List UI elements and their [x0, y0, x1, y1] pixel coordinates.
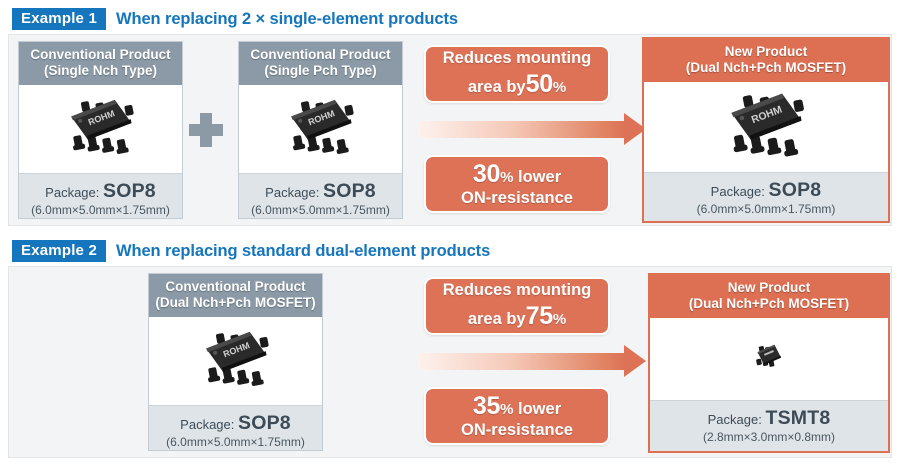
- package-label: Package:: [180, 417, 234, 432]
- callout-percent-value: 35: [473, 392, 500, 420]
- panel-header: Conventional Product (Single Nch Type): [19, 42, 182, 85]
- panel-head-line1: Conventional Product: [153, 279, 318, 295]
- panel-chip-area: ROHM: [239, 85, 402, 173]
- callout-percent-symbol: %: [500, 401, 513, 418]
- package-line: Package: SOP8: [241, 180, 400, 202]
- panel-head-line2: (Dual Nch+Pch MOSFET): [153, 295, 318, 311]
- panel-conventional-pch: Conventional Product (Single Pch Type): [238, 41, 403, 219]
- panel-header: Conventional Product (Single Pch Type): [239, 42, 402, 85]
- callout-lower-word: lower: [518, 400, 561, 418]
- transition-arrow: [418, 345, 646, 378]
- callout-percent-value: 75: [526, 302, 553, 330]
- panel-package-info: Package: TSMT8 (2.8mm×3.0mm×0.8mm): [650, 400, 888, 451]
- panel-head-line2: (Single Pch Type): [243, 63, 398, 79]
- package-line: Package: SOP8: [21, 180, 180, 202]
- panel-chip-area: [650, 318, 888, 400]
- package-name: SOP8: [103, 180, 156, 202]
- example-2-badge: Example 2: [12, 240, 106, 262]
- package-line: Package: TSMT8: [652, 407, 886, 429]
- sop8-chip-icon: ROHM: [187, 320, 284, 402]
- callout-line-2: area by75%: [468, 301, 566, 331]
- package-dimensions: (2.8mm×3.0mm×0.8mm): [652, 430, 886, 444]
- example-1-header: Example 1 When replacing 2 × single-elem…: [12, 8, 458, 30]
- panel-header: New Product (Dual Nch+Pch MOSFET): [644, 39, 888, 82]
- infographic-root: Example 1 When replacing 2 × single-elem…: [0, 0, 900, 466]
- package-name: SOP8: [323, 180, 376, 202]
- panel-head-line2: (Dual Nch+Pch MOSFET): [648, 60, 884, 76]
- panel-chip-area: ROHM: [149, 317, 322, 405]
- panel-package-info: Package: SOP8 (6.0mm×5.0mm×1.75mm): [19, 173, 182, 219]
- package-dimensions: (6.0mm×5.0mm×1.75mm): [646, 202, 886, 216]
- callout-percent-value: 30: [473, 160, 500, 188]
- callout-line-2: ON-resistance: [461, 189, 573, 209]
- package-dimensions: (6.0mm×5.0mm×1.75mm): [21, 203, 180, 217]
- callout-on-resistance-1: 30% lower ON-resistance: [424, 155, 610, 213]
- callout-line-1: Reduces mounting: [443, 49, 592, 69]
- panel-new-product-1: New Product (Dual Nch+Pch MOSFET): [642, 37, 890, 223]
- panel-new-product-2: New Product (Dual Nch+Pch MOSFET): [648, 273, 890, 453]
- callout-percent-symbol: %: [500, 169, 513, 186]
- panel-head-line1: New Product: [648, 44, 884, 60]
- panel-head-line2: (Dual Nch+Pch MOSFET): [654, 296, 884, 312]
- callout-area-by: area by: [468, 310, 526, 328]
- package-name: SOP8: [769, 179, 822, 201]
- callout-line-1: 30% lower: [473, 159, 561, 189]
- package-name: SOP8: [238, 412, 291, 434]
- example-2-title: When replacing standard dual-element pro…: [116, 242, 490, 261]
- panel-head-line1: New Product: [654, 280, 884, 296]
- panel-package-info: Package: SOP8 (6.0mm×5.0mm×1.75mm): [644, 172, 888, 223]
- package-label: Package:: [265, 185, 319, 200]
- plus-icon: [189, 113, 223, 147]
- package-line: Package: SOP8: [151, 412, 320, 434]
- package-dimensions: (6.0mm×5.0mm×1.75mm): [151, 435, 320, 449]
- callout-line-1: 35% lower: [473, 391, 561, 421]
- callout-line-2: ON-resistance: [461, 421, 573, 441]
- callout-line-2: area by50%: [468, 69, 566, 99]
- panel-conventional-nch: Conventional Product (Single Nch Type): [18, 41, 183, 219]
- callout-lower-word: lower: [518, 168, 561, 186]
- callout-on-resistance-2: 35% lower ON-resistance: [424, 387, 610, 445]
- callout-area-by: area by: [468, 78, 526, 96]
- example-1-title: When replacing 2 × single-element produc…: [116, 10, 458, 29]
- panel-head-line1: Conventional Product: [243, 47, 398, 63]
- callout-mounting-area-1: Reduces mounting area by50%: [424, 45, 610, 103]
- callout-percent-value: 50: [526, 70, 553, 98]
- package-label: Package:: [711, 184, 765, 199]
- sop8-chip-icon: ROHM: [52, 88, 149, 170]
- package-line: Package: SOP8: [646, 179, 886, 201]
- example-2-header: Example 2 When replacing standard dual-e…: [12, 240, 490, 262]
- example-1-badge: Example 1: [12, 8, 106, 30]
- panel-package-info: Package: SOP8 (6.0mm×5.0mm×1.75mm): [239, 173, 402, 219]
- tsmt8-chip-icon: [749, 338, 789, 379]
- callout-line-1: Reduces mounting: [443, 281, 592, 301]
- callout-mounting-area-2: Reduces mounting area by75%: [424, 277, 610, 335]
- panel-package-info: Package: SOP8 (6.0mm×5.0mm×1.75mm): [149, 405, 322, 451]
- panel-head-line1: Conventional Product: [23, 47, 178, 63]
- panel-head-line2: (Single Nch Type): [23, 63, 178, 79]
- package-dimensions: (6.0mm×5.0mm×1.75mm): [241, 203, 400, 217]
- transition-arrow: [418, 113, 646, 146]
- package-name: TSMT8: [765, 407, 830, 429]
- panel-chip-area: ROHM: [19, 85, 182, 173]
- sop8-chip-icon: ROHM: [272, 88, 369, 170]
- panel-conventional-dual: Conventional Product (Dual Nch+Pch MOSFE…: [148, 273, 323, 451]
- callout-percent-symbol: %: [553, 311, 566, 328]
- panel-header: Conventional Product (Dual Nch+Pch MOSFE…: [149, 274, 322, 317]
- package-label: Package:: [708, 412, 762, 427]
- callout-percent-symbol: %: [553, 79, 566, 96]
- sop8-chip-icon: ROHM: [710, 80, 823, 175]
- panel-header: New Product (Dual Nch+Pch MOSFET): [650, 275, 888, 318]
- package-label: Package:: [45, 185, 99, 200]
- panel-chip-area: ROHM: [644, 82, 888, 172]
